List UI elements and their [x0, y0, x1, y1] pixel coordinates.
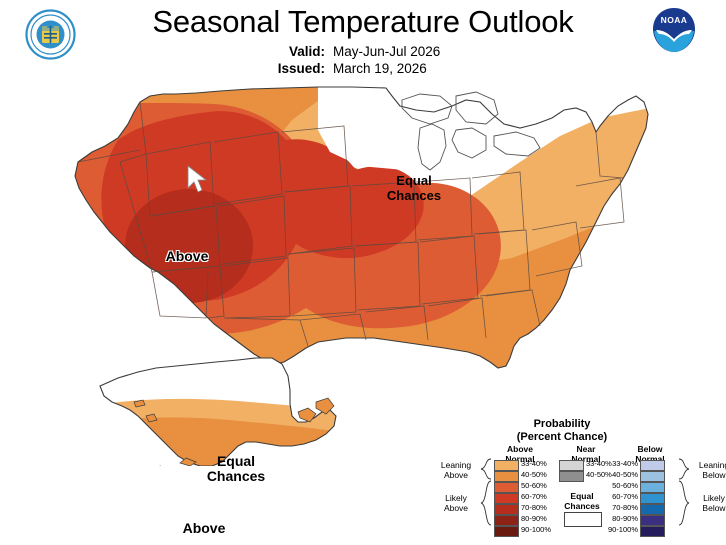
legend-range-above-normal-80-90: 80-90%: [521, 515, 547, 524]
head-below-l1: Below: [637, 444, 662, 454]
map-label-above-alaska: Above: [168, 521, 240, 536]
legend-swatch-above-normal-90-100: [494, 526, 519, 537]
legend-equal-chances-caption: Equal Chances: [552, 492, 612, 511]
legend-range-above-normal-60-70: 60-70%: [521, 493, 547, 502]
leaning-above-l1: Leaning: [441, 460, 471, 470]
likely-above-l1: Likely: [445, 493, 467, 503]
likely-below-l2: Below: [702, 503, 725, 513]
legend-range-below-normal-50-60: 50-60%: [604, 482, 638, 491]
conus-region: [0, 66, 726, 466]
legend-swatch-above-normal-50-60: [494, 482, 519, 493]
likely-above-l2: Above: [444, 503, 468, 513]
valid-label: Valid:: [205, 44, 325, 59]
legend-swatch-near-normal-33-40: [559, 460, 584, 471]
legend-range-above-normal-40-50: 40-50%: [521, 471, 547, 480]
legend-swatch-below-normal-80-90: [640, 515, 665, 526]
brace-leaning-above: [480, 458, 492, 480]
leaning-below-l2: Below: [702, 470, 725, 480]
noaa-logo-icon: NOAA: [650, 6, 698, 54]
page-title: Seasonal Temperature Outlook: [0, 4, 726, 40]
legend-label-likely-below: Likely Below: [690, 494, 726, 513]
legend-swatch-above-normal-33-40: [494, 460, 519, 471]
legend-swatch-below-normal-40-50: [640, 471, 665, 482]
legend-swatch-below-normal-50-60: [640, 482, 665, 493]
svg-text:NOAA: NOAA: [661, 15, 688, 25]
head-near-l1: Near: [577, 444, 596, 454]
legend-range-below-normal-80-90: 80-90%: [604, 515, 638, 524]
legend-swatch-above-normal-70-80: [494, 504, 519, 515]
legend-swatch-above-normal-60-70: [494, 493, 519, 504]
legend-title: Probability (Percent Chance): [444, 418, 680, 443]
outlook-map: Above Equal Chances Equal Chances Above: [0, 66, 726, 466]
legend-label-leaning-above: Leaning Above: [432, 461, 480, 480]
head-above-l1: Above: [507, 444, 533, 454]
brace-likely-below: [678, 480, 690, 526]
valid-value: May-Jun-Jul 2026: [333, 44, 440, 59]
ec-cap-l2: Chances: [564, 501, 599, 511]
probability-legend: Probability (Percent Chance) Above Norma…: [444, 418, 726, 545]
seasonal-outlook-page: Seasonal Temperature Outlook Valid: May-…: [0, 0, 726, 545]
ec-cap-l1: Equal: [570, 491, 593, 501]
legend-range-above-normal-70-80: 70-80%: [521, 504, 547, 513]
legend-swatch-above-normal-80-90: [494, 515, 519, 526]
legend-swatch-near-normal-40-50: [559, 471, 584, 482]
legend-swatch-below-normal-90-100: [640, 526, 665, 537]
legend-swatch-below-normal-70-80: [640, 504, 665, 515]
legend-swatch-below-normal-60-70: [640, 493, 665, 504]
likely-below-l1: Likely: [703, 493, 725, 503]
legend-range-above-normal-50-60: 50-60%: [521, 482, 547, 491]
leaning-below-l1: Leaning: [699, 460, 726, 470]
legend-range-below-normal-90-100: 90-100%: [604, 526, 638, 535]
legend-range-above-normal-33-40: 33-40%: [521, 460, 547, 469]
legend-title-line2: (Percent Chance): [517, 431, 607, 443]
brace-likely-above: [480, 480, 492, 526]
legend-range-below-normal-33-40: 33-40%: [604, 460, 638, 469]
legend-label-likely-above: Likely Above: [432, 494, 480, 513]
legend-swatch-below-normal-33-40: [640, 460, 665, 471]
legend-swatch-above-normal-40-50: [494, 471, 519, 482]
brace-leaning-below: [678, 458, 690, 480]
ec-ak-line2: Chances: [207, 468, 265, 484]
legend-title-line1: Probability: [534, 418, 591, 430]
legend-range-above-normal-90-100: 90-100%: [521, 526, 551, 535]
legend-label-leaning-below: Leaning Below: [690, 461, 726, 480]
alaska-inset: [60, 346, 380, 466]
leaning-above-l2: Above: [444, 470, 468, 480]
legend-equal-chances-swatch: [564, 512, 602, 527]
legend-range-below-normal-40-50: 40-50%: [604, 471, 638, 480]
